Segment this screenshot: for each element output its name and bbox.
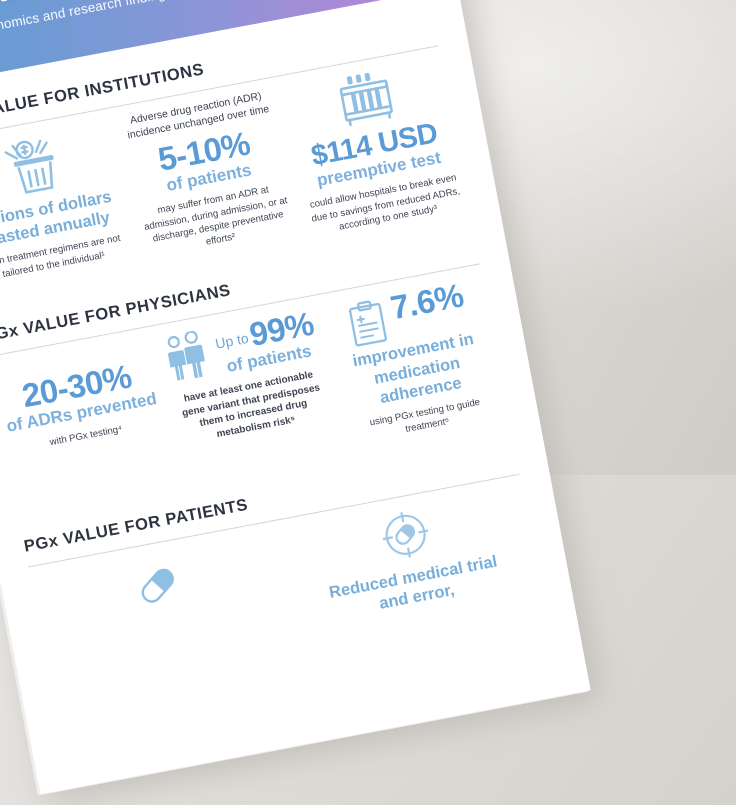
card-adr-incidence: Adverse drug reaction (ADR) incidence un… xyxy=(114,81,302,261)
capsule-pill-icon xyxy=(125,557,189,615)
card-stat: 7.6% xyxy=(388,279,466,327)
card-stat-prefix: Up to xyxy=(214,330,250,352)
trash-can-money-icon xyxy=(0,127,76,201)
card-billions-wasted: Billions of dollars wasted annually when… xyxy=(0,113,135,287)
card-medication-adherence: 7.6% improvement in medication adherence… xyxy=(321,269,509,448)
card-preemptive-test-cost: $114 USD preemptive test could allow hos… xyxy=(279,50,469,240)
two-people-icon xyxy=(162,329,214,384)
clipboard-icon xyxy=(345,298,391,350)
card-actionable-gene-variant: Up to99% of patients have at least one a… xyxy=(155,300,337,450)
target-pill-icon xyxy=(370,503,441,568)
test-tube-rack-icon xyxy=(329,65,402,132)
